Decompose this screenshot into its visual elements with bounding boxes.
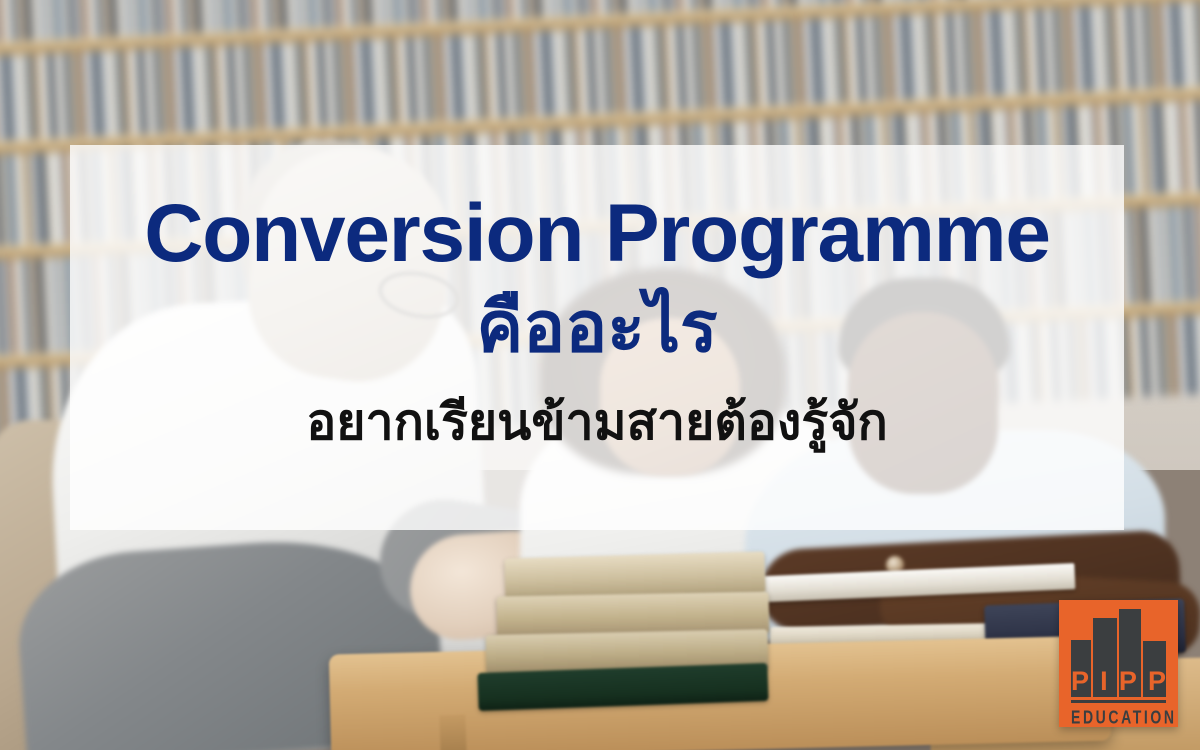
logo-letter: P [1119, 668, 1137, 695]
headline-block: Conversion Programme คืออะไร อยากเรียนข้… [70, 145, 1124, 530]
headline-line-2: คืออะไร [476, 291, 717, 365]
table-leg [439, 715, 466, 750]
headline-line-1: Conversion Programme [144, 193, 1050, 275]
banner-canvas: Conversion Programme คืออะไร อยากเรียนข้… [0, 0, 1200, 750]
subtitle-text: อยากเรียนข้ามสายต้องรู้จัก [306, 395, 888, 450]
logo-letter: P [1148, 668, 1166, 695]
pipp-education-logo[interactable]: P I P P EDUCATION [1059, 600, 1178, 727]
logo-brand-letters: P I P P [1071, 666, 1166, 697]
logo-letter: P [1071, 668, 1089, 695]
logo-divider [1071, 700, 1166, 703]
logo-tagline: EDUCATION [1071, 706, 1166, 729]
logo-letter: I [1100, 668, 1108, 695]
